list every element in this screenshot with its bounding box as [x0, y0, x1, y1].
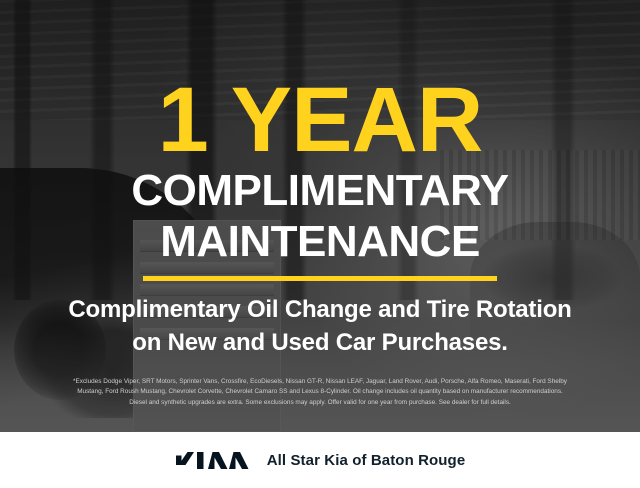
headline-maintenance: MAINTENANCE	[160, 220, 480, 265]
disclaimer-line-1: *Excludes Dodge Viper, SRT Motors, Sprin…	[14, 377, 626, 387]
hero-section: 1 YEAR COMPLIMENTARY MAINTENANCE Complim…	[0, 0, 640, 432]
headline-year: 1 YEAR	[158, 78, 483, 163]
disclaimer-text: *Excludes Dodge Viper, SRT Motors, Sprin…	[14, 377, 626, 408]
promotional-banner: 1 YEAR COMPLIMENTARY MAINTENANCE Complim…	[0, 0, 640, 488]
dealer-name: All Star Kia of Baton Rouge	[267, 452, 466, 469]
accent-divider	[143, 276, 497, 281]
promo-offer-line-2: on New and Used Car Purchases.	[132, 328, 507, 359]
disclaimer-line-2: Mustang, Ford Roush Mustang, Chevrolet C…	[14, 387, 626, 397]
headline-complimentary: COMPLIMENTARY	[131, 169, 508, 214]
hero-content: 1 YEAR COMPLIMENTARY MAINTENANCE Complim…	[0, 0, 640, 432]
kia-logo	[175, 450, 249, 471]
disclaimer-line-3: Diesel and synthetic upgrades are extra.…	[14, 398, 626, 408]
footer-bar: All Star Kia of Baton Rouge	[0, 432, 640, 488]
promo-offer-line-1: Complimentary Oil Change and Tire Rotati…	[68, 295, 571, 326]
